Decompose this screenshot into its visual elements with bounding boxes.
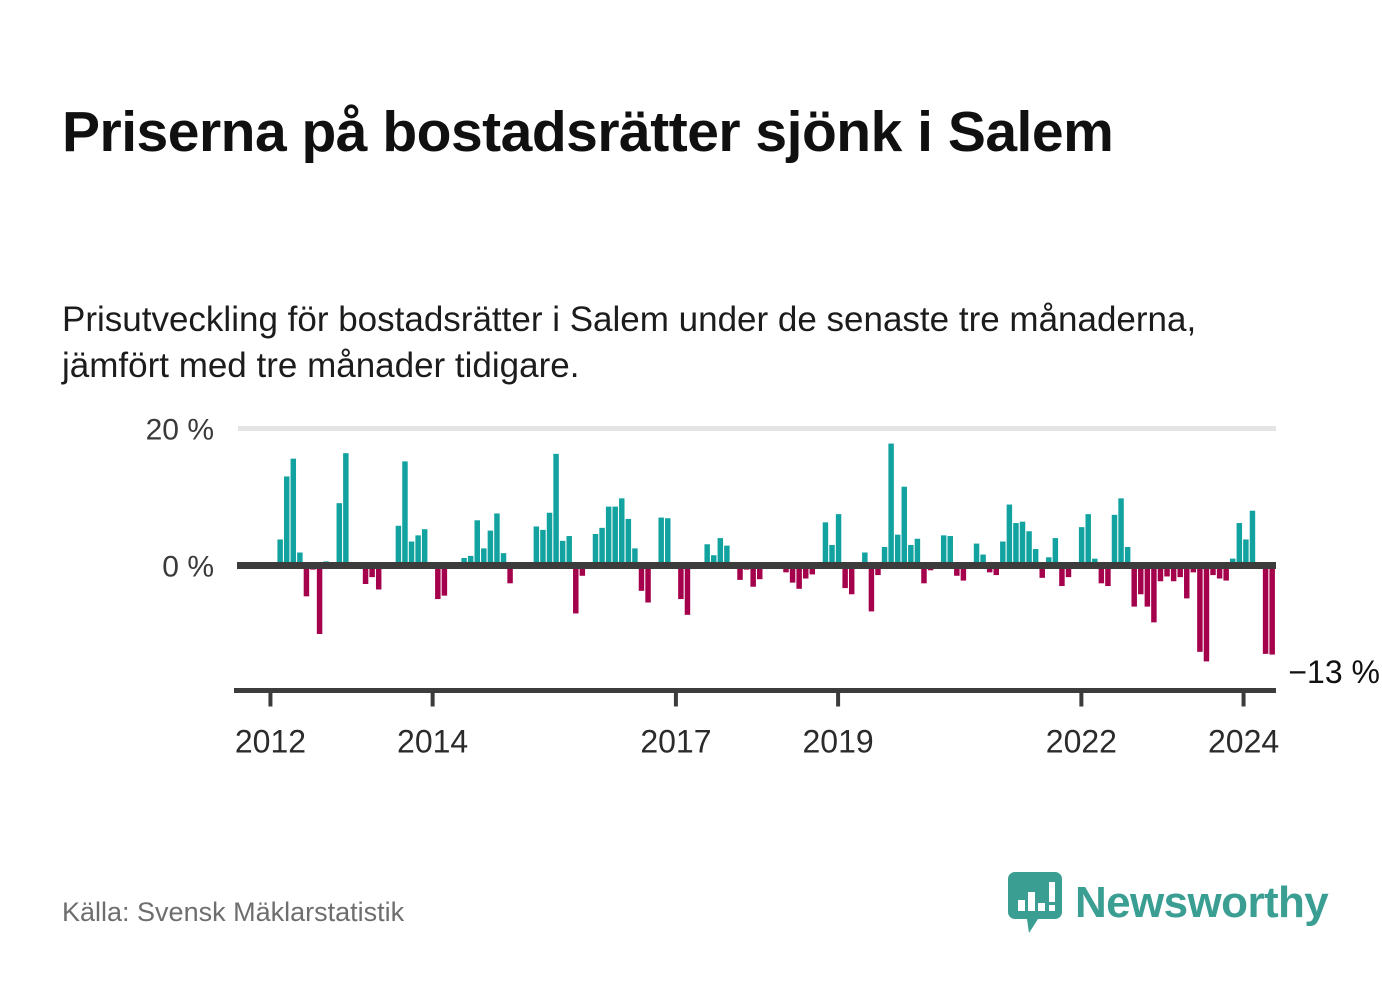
chart-bar	[363, 566, 368, 585]
chart-bar	[711, 555, 716, 565]
chart-bar	[1256, 566, 1261, 569]
chart-bar	[481, 548, 486, 565]
chart-bar	[547, 513, 552, 566]
chart-bar	[1191, 566, 1196, 573]
chart-bar	[875, 566, 880, 576]
chart-bar	[317, 566, 322, 635]
source-caption: Källa: Svensk Mäklarstatistik	[62, 897, 404, 928]
chart-bar	[1026, 531, 1031, 565]
chart-bar	[409, 542, 414, 566]
chart-bar	[1237, 523, 1242, 565]
chart-bar	[665, 518, 670, 565]
chart-bar	[1085, 514, 1090, 565]
chart-bar	[961, 566, 966, 581]
x-tick-label: 2019	[803, 724, 874, 760]
chart-bar	[882, 547, 887, 566]
chart-bar	[520, 566, 525, 567]
chart-bar	[389, 562, 394, 565]
chart-bar	[1230, 559, 1235, 566]
chart-bar	[599, 528, 604, 566]
chart-bar	[895, 535, 900, 566]
chart-bar	[468, 556, 473, 566]
chart-bar	[1072, 563, 1077, 566]
chart-bar	[475, 520, 480, 565]
chart-bar	[1092, 559, 1097, 566]
chart-bar	[323, 561, 328, 565]
x-tick-label: 2024	[1208, 724, 1279, 760]
chart-bar	[1138, 566, 1143, 595]
x-tick-label: 2022	[1046, 724, 1117, 760]
x-tick-label: 2017	[640, 724, 711, 760]
chart-bar	[1158, 566, 1163, 582]
chart-bar	[284, 476, 289, 565]
chart-bar	[691, 566, 696, 569]
chart-bar	[1164, 566, 1169, 577]
chart-bar	[737, 566, 742, 580]
chart-bar	[731, 566, 736, 568]
chart-bar	[1007, 505, 1012, 566]
chart-bar	[1000, 542, 1005, 566]
chart-bar	[310, 566, 315, 570]
newsworthy-logo[interactable]: Newsworthy	[1008, 872, 1328, 934]
chart-bar	[343, 453, 348, 565]
chart-bar	[987, 566, 992, 573]
chart-bar	[1013, 523, 1018, 565]
chart-bar	[383, 566, 388, 568]
chart-value-annotation: −13 %	[1288, 654, 1380, 690]
chart-bar	[573, 566, 578, 614]
chart-bar	[1131, 566, 1136, 607]
chart-bar	[1204, 566, 1209, 662]
chart-bar	[501, 553, 506, 565]
chart-bar	[836, 514, 841, 565]
chart-bar	[1269, 566, 1274, 655]
chart-bar	[856, 562, 861, 565]
chart-bar	[902, 487, 907, 566]
chart-bar	[1125, 547, 1130, 566]
chart-bar	[1059, 566, 1064, 587]
chart-bar	[770, 563, 775, 565]
chart-bar	[783, 566, 788, 573]
chart-bar	[862, 552, 867, 565]
chart-x-axis	[234, 691, 1276, 707]
chart-bar	[757, 566, 762, 580]
chart-bar	[291, 459, 296, 566]
chart-bar	[823, 522, 828, 565]
chart-bar	[626, 519, 631, 566]
chart-bar	[1020, 522, 1025, 566]
chart-bar	[796, 566, 801, 589]
chart-bar	[442, 566, 447, 596]
chart-bar	[915, 539, 920, 566]
chart-bar	[330, 563, 335, 565]
chart-bar	[685, 566, 690, 615]
chart-bar	[1197, 566, 1202, 652]
chart-bar	[1223, 566, 1228, 581]
chart-bar	[954, 566, 959, 576]
chart-bar	[337, 503, 342, 565]
chart-bar	[921, 566, 926, 584]
x-tick-label: 2014	[397, 724, 468, 760]
chart-bars	[277, 444, 1274, 662]
chart-bar	[540, 530, 545, 566]
chart-bar	[488, 531, 493, 566]
chart-bar	[672, 563, 677, 565]
chart-x-tick-labels: 201220142017201920222024	[235, 724, 1279, 760]
chart-bar	[967, 563, 972, 566]
chart-bar	[934, 562, 939, 565]
chart-bar	[1066, 566, 1071, 578]
chart-bar	[994, 566, 999, 576]
chart-bar	[580, 566, 585, 576]
chart-bar	[619, 498, 624, 565]
chart-bar	[553, 454, 558, 566]
chart-bar	[1033, 549, 1038, 565]
chart-bar	[1112, 515, 1117, 566]
chart-bar	[461, 558, 466, 566]
chart-bar	[645, 566, 650, 603]
chart-bar	[304, 566, 309, 597]
chart-bar	[1210, 566, 1215, 576]
chart-bar	[704, 544, 709, 565]
page-subtitle: Prisutveckling för bostadsrätter i Salem…	[62, 297, 1312, 389]
chart-bar	[1171, 566, 1176, 582]
chart-bar	[455, 562, 460, 565]
chart-bar	[1046, 557, 1051, 565]
bar-chart-speech-bubble-icon	[1008, 872, 1062, 934]
chart-bar	[612, 507, 617, 566]
chart-bar	[1184, 566, 1189, 599]
chart-bar	[422, 529, 427, 565]
chart-bar	[928, 566, 933, 571]
chart-bar	[652, 563, 657, 566]
chart-bar	[1105, 566, 1110, 587]
chart-bar	[1243, 539, 1248, 565]
chart-bar	[376, 566, 381, 590]
chart-bar	[606, 507, 611, 566]
chart-bar	[632, 548, 637, 565]
chart-bar	[1151, 566, 1156, 623]
chart-bar	[941, 535, 946, 565]
chart-bar	[1079, 527, 1084, 565]
chart-bar	[369, 566, 374, 578]
chart-bar	[724, 546, 729, 566]
chart-bar	[435, 566, 440, 600]
chart-bar	[1118, 498, 1123, 565]
chart-bar	[658, 518, 663, 566]
chart-bar	[888, 444, 893, 566]
chart-bar	[744, 566, 749, 570]
chart-bar	[534, 526, 539, 565]
chart-bar	[586, 564, 591, 565]
chart-bar	[527, 563, 532, 566]
chart-bar	[777, 562, 782, 565]
y-tick-label: 0 %	[162, 551, 214, 584]
chart-bar	[803, 566, 808, 579]
chart-bar	[494, 513, 499, 565]
chart-bar	[514, 566, 519, 568]
chart-bar	[448, 566, 453, 569]
chart-bar	[849, 566, 854, 595]
chart-bar	[356, 566, 361, 569]
chart-bar	[869, 566, 874, 612]
chart-bar	[816, 563, 821, 566]
infographic-page: Priserna på bostadsrätter sjönk i Salem …	[0, 0, 1382, 999]
chart-bar	[277, 539, 282, 565]
chart-bar	[429, 563, 434, 566]
page-title: Priserna på bostadsrätter sjönk i Salem	[62, 100, 1212, 166]
chart-bar	[297, 552, 302, 565]
y-tick-label: 20 %	[146, 414, 214, 447]
chart-bar	[980, 555, 985, 566]
chart-bar	[678, 566, 683, 600]
chart-bar	[750, 566, 755, 587]
chart-bar	[810, 566, 815, 575]
chart-bar	[566, 536, 571, 565]
logo-wordmark: Newsworthy	[1075, 881, 1328, 925]
chart-bar	[350, 564, 355, 565]
chart-bar	[1099, 566, 1104, 584]
chart-bar	[974, 544, 979, 566]
chart-bar	[698, 562, 703, 565]
chart-bar	[593, 534, 598, 566]
chart-bar	[948, 536, 953, 565]
chart-bar	[1250, 511, 1255, 566]
chart-bar	[829, 545, 834, 566]
chart-y-tick-labels: 0 %20 %	[146, 414, 214, 584]
chart-bar	[1053, 538, 1058, 565]
chart-bar	[1145, 566, 1150, 607]
chart-bar	[507, 566, 512, 584]
chart-bar	[1263, 566, 1268, 654]
chart-bar	[402, 461, 407, 565]
chart-bar	[1177, 566, 1182, 578]
value-annotation-label: −13 %	[1288, 654, 1380, 690]
chart-bar	[639, 566, 644, 591]
chart-bar	[1039, 566, 1044, 578]
chart-bar	[718, 538, 723, 565]
chart-bar	[790, 566, 795, 583]
chart-bar	[842, 566, 847, 589]
chart-bar	[560, 541, 565, 566]
chart-bar	[1217, 566, 1222, 579]
chart-bar	[396, 526, 401, 566]
chart-bar	[764, 566, 769, 569]
x-tick-label: 2012	[235, 724, 306, 760]
chart-bar	[415, 535, 420, 565]
chart-bar	[908, 545, 913, 566]
